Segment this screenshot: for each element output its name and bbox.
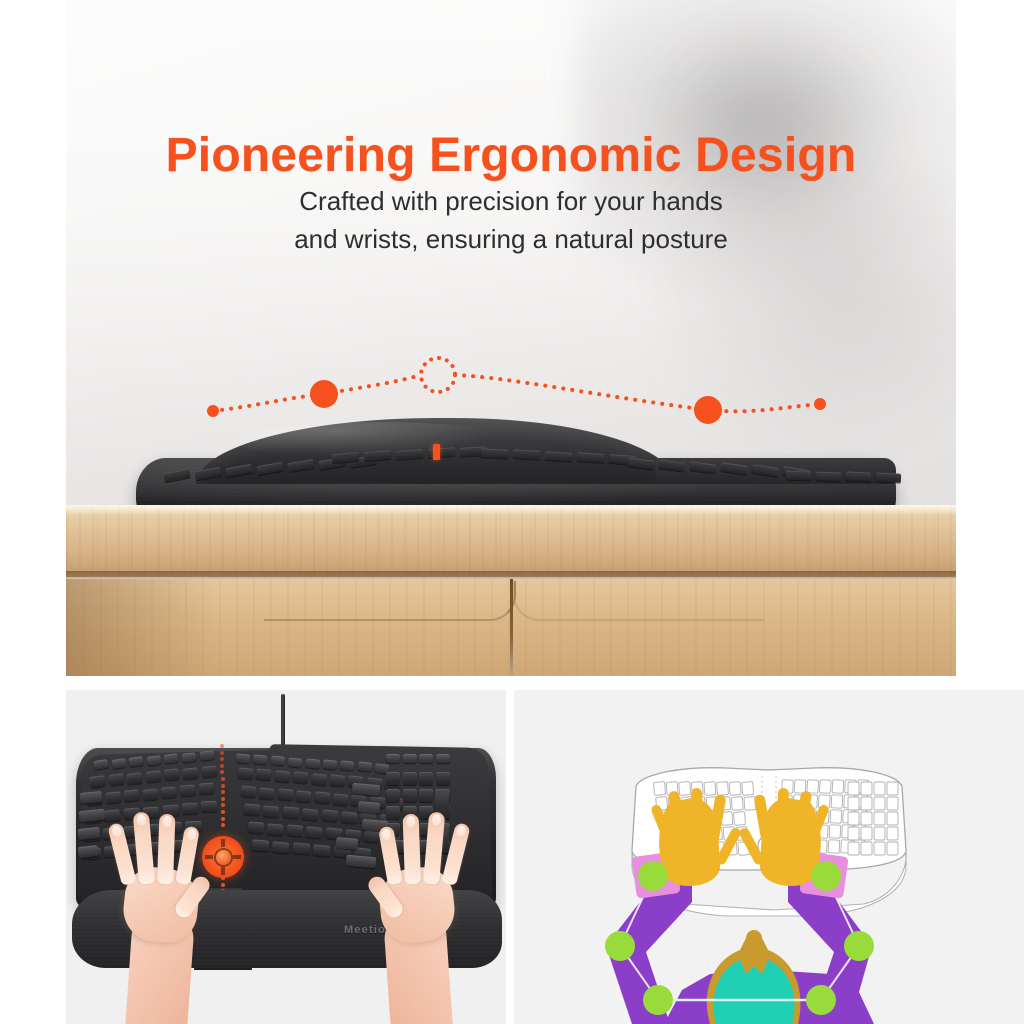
keycap-outline	[734, 812, 746, 826]
keycap	[256, 462, 283, 475]
keycap	[282, 806, 299, 818]
keycap	[111, 758, 126, 769]
keycap	[79, 791, 102, 804]
split-guide-dot	[220, 764, 224, 768]
keycap	[751, 464, 778, 477]
keycap	[329, 774, 345, 787]
keycap	[286, 824, 303, 836]
keycap	[720, 463, 747, 476]
hero-subtitle-line-2: and wrists, ensuring a natural posture	[66, 220, 956, 258]
drawer-handle-notch-left	[264, 581, 516, 621]
keycap	[323, 759, 338, 769]
keycap	[163, 469, 190, 483]
keycap	[481, 448, 508, 458]
joint-wrist-left	[638, 861, 668, 891]
wooden-desk	[66, 505, 956, 676]
keycap	[142, 788, 158, 800]
keycap-outline	[874, 812, 885, 825]
joint-shoulder-right	[806, 985, 836, 1015]
fingernail	[381, 828, 392, 840]
drawer-handle-notch-right	[513, 581, 765, 621]
fingernail	[186, 828, 197, 840]
keycap	[293, 771, 309, 783]
keycap-outline	[887, 797, 898, 810]
keycap	[419, 789, 433, 802]
keycap	[78, 809, 105, 823]
split-guide-dot	[221, 790, 225, 794]
keycap-outline	[861, 827, 872, 840]
keycap	[513, 450, 540, 461]
fingernail	[406, 816, 415, 827]
keycap	[396, 449, 424, 460]
keycap	[199, 750, 214, 760]
drawer-left-shadow	[66, 579, 216, 676]
keycap	[358, 801, 381, 814]
hero-subtitle: Crafted with precision for your hands an…	[66, 182, 956, 258]
keycap	[256, 769, 272, 781]
hero-subtitle-line-1: Crafted with precision for your hands	[66, 182, 956, 220]
keycap	[127, 772, 143, 785]
right-hand	[348, 816, 468, 1024]
keycap	[108, 773, 124, 786]
split-guide-dot	[221, 810, 225, 814]
desk-edge-highlight	[66, 505, 956, 515]
keycap-outline	[874, 827, 885, 840]
keycap	[577, 452, 605, 463]
keycap	[77, 845, 98, 858]
keycap	[164, 768, 180, 781]
keycap-outline	[704, 782, 716, 796]
keycap	[352, 783, 381, 796]
keycap	[272, 841, 290, 853]
keycap	[201, 801, 218, 813]
keycap-outline	[861, 782, 872, 795]
keycap	[182, 752, 197, 763]
keycap	[277, 788, 293, 800]
keycap	[270, 756, 285, 766]
keyboard-top-view: Meetion	[76, 738, 496, 1024]
split-guide-dot	[221, 784, 225, 788]
keycap	[77, 827, 100, 840]
keycap	[164, 753, 179, 764]
keycap-outline	[654, 782, 666, 796]
keycap	[244, 803, 261, 815]
keycap-outline	[807, 780, 819, 794]
keycap-outline	[887, 812, 898, 825]
keycap-outline	[848, 782, 859, 795]
keycap-outline	[832, 780, 844, 794]
fingernail	[111, 825, 122, 838]
split-guide-dot	[221, 803, 225, 807]
keycap-outline	[679, 782, 691, 796]
fingernail	[432, 814, 442, 826]
split-guide-dot	[220, 751, 224, 755]
keycap	[89, 775, 105, 788]
keycap-outline	[887, 842, 898, 855]
dpad-right-divider	[233, 855, 241, 859]
keycap	[545, 451, 573, 462]
keycap	[786, 471, 811, 481]
desk-wood-grain	[66, 505, 956, 577]
keycap-outline	[874, 797, 885, 810]
keycap-outline	[830, 810, 842, 824]
keycap	[236, 753, 251, 763]
keycap	[403, 754, 417, 763]
keycap	[340, 760, 355, 770]
keycap	[419, 772, 433, 785]
keycap	[816, 471, 841, 481]
keycap	[876, 472, 901, 482]
keycap-outline	[848, 827, 859, 840]
keycap-outline	[874, 842, 885, 855]
keycap	[846, 472, 871, 482]
keycap	[428, 447, 456, 458]
keycap	[225, 464, 252, 478]
keycap	[183, 767, 199, 779]
split-guide-dot	[220, 770, 224, 774]
finger	[107, 822, 137, 886]
split-guide-dot	[221, 777, 225, 781]
keycap-outline	[794, 780, 806, 794]
keycap	[198, 783, 214, 795]
panel-posture-illustration	[514, 690, 1024, 1024]
keycap	[332, 793, 348, 806]
keycap	[194, 466, 221, 480]
page-title: Pioneering Ergonomic Design	[66, 128, 956, 183]
keycap-outline	[731, 797, 743, 811]
keycap-outline	[829, 825, 841, 839]
keycap	[248, 821, 265, 833]
keycap-outline	[887, 827, 898, 840]
keycap	[313, 844, 331, 857]
keycap	[386, 789, 400, 802]
keycap	[252, 839, 270, 851]
fingernail	[162, 816, 171, 827]
keycap-outline	[819, 780, 831, 794]
keycap-outline	[861, 797, 872, 810]
keycap-outline	[848, 797, 859, 810]
keycap-outline	[861, 812, 872, 825]
fingernail	[456, 825, 467, 838]
keycap	[241, 785, 257, 797]
keycap	[403, 772, 417, 785]
keycap	[659, 459, 686, 471]
hero-section: Pioneering Ergonomic Design Crafted with…	[66, 0, 956, 676]
keycap	[274, 770, 290, 782]
keycap	[436, 772, 450, 785]
keycap	[146, 755, 161, 766]
keycap	[357, 762, 372, 773]
keycap	[129, 756, 144, 767]
keycap	[180, 784, 196, 796]
desk-top-surface	[66, 505, 956, 577]
finger	[175, 826, 200, 886]
keycap	[124, 790, 140, 803]
keycap	[314, 791, 330, 803]
keycap	[364, 450, 392, 461]
finger	[691, 788, 704, 846]
keycap	[182, 803, 199, 815]
fingernail	[136, 814, 146, 826]
keycap	[287, 459, 314, 472]
keycap-outline	[874, 782, 885, 795]
keycap	[302, 808, 319, 821]
keycap	[305, 758, 320, 768]
keycap	[296, 790, 312, 802]
keycap	[105, 791, 121, 804]
keyboard-side-profile	[136, 410, 896, 520]
keycap	[628, 457, 655, 469]
keycap-outline	[887, 782, 898, 795]
keycap	[238, 767, 254, 779]
joint-wrist-right	[811, 861, 841, 891]
posture-diagram	[514, 690, 1024, 1024]
keycap-outline	[828, 840, 840, 854]
finger	[403, 814, 421, 885]
keycap	[403, 789, 417, 802]
split-guide-dot	[220, 757, 224, 761]
panel-hands-on-keyboard: Meetion	[66, 690, 506, 1024]
keycap-outline	[848, 842, 859, 855]
keycap	[253, 755, 268, 765]
keycap	[419, 754, 433, 763]
keycap	[321, 809, 338, 822]
joint-elbow-right	[844, 931, 874, 961]
keycap	[161, 786, 177, 798]
keycap	[386, 772, 400, 785]
keycap	[263, 805, 280, 817]
finger	[441, 822, 471, 886]
keycap-outline	[861, 842, 872, 855]
joint-elbow-left	[605, 931, 635, 961]
left-hand	[110, 816, 230, 1024]
finger	[157, 814, 175, 885]
keycap	[306, 826, 323, 839]
keycap-outline	[831, 795, 843, 809]
joint-shoulder-left	[643, 985, 673, 1015]
keycap	[267, 823, 284, 835]
keycap	[311, 773, 327, 785]
orange-accent-key	[433, 444, 440, 460]
keycap	[93, 759, 108, 770]
keycap-outline	[848, 812, 859, 825]
keycap-outline	[717, 782, 729, 796]
keycap	[292, 842, 310, 855]
keycap	[690, 461, 717, 473]
split-guide-dot	[220, 744, 224, 748]
keycap	[436, 754, 450, 763]
keycap	[145, 770, 161, 783]
keycap-outline	[742, 782, 754, 796]
keycap	[386, 754, 400, 763]
keycap	[201, 765, 217, 777]
split-guide-dot	[221, 797, 225, 801]
keycap-outline	[744, 797, 756, 811]
keycap-outline	[729, 782, 741, 796]
product-marketing-page: Pioneering Ergonomic Design Crafted with…	[0, 0, 1024, 1024]
keycap	[259, 787, 275, 799]
finger	[776, 788, 789, 846]
finger	[378, 826, 403, 886]
keycap	[288, 757, 303, 767]
drawer-center-seam	[510, 579, 513, 676]
